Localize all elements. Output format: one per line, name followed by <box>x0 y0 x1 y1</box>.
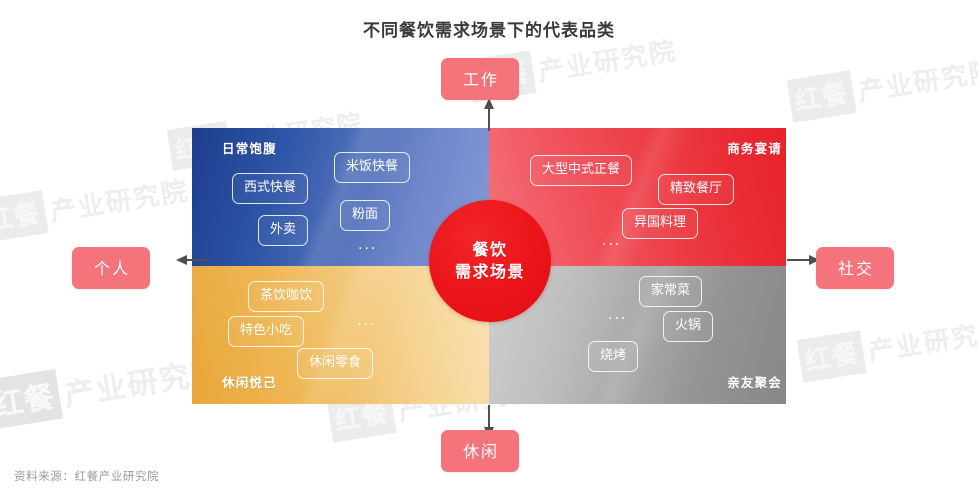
page-title: 不同餐饮需求场景下的代表品类 <box>0 16 978 41</box>
watermark: 红餐 产业研究院 <box>787 48 978 123</box>
category-pill[interactable]: 休闲零食 <box>297 348 373 379</box>
category-pill[interactable]: 米饭快餐 <box>334 152 410 183</box>
category-pill[interactable]: 烧烤 <box>588 341 638 372</box>
axis-label-work: 工作 <box>441 58 519 100</box>
category-pill[interactable]: 火锅 <box>663 311 713 342</box>
center-circle: 餐饮 需求场景 <box>429 200 551 322</box>
watermark-brand: 红餐 <box>0 369 63 430</box>
category-pill[interactable]: 茶饮咖饮 <box>248 281 324 312</box>
category-pill[interactable]: 西式快餐 <box>232 173 308 204</box>
more-indicator: ... <box>608 307 627 323</box>
category-pill[interactable]: 特色小吃 <box>228 316 304 347</box>
category-pill[interactable]: 外卖 <box>258 215 308 246</box>
quadrant-label-daily-meal: 日常饱腹 <box>222 138 277 157</box>
category-pill[interactable]: 异国料理 <box>622 208 698 239</box>
axis-label-social: 社交 <box>816 247 894 289</box>
more-indicator: ... <box>358 237 377 253</box>
category-pill[interactable]: 粉面 <box>340 200 390 231</box>
quadrant-label-gathering: 亲友聚会 <box>727 372 782 391</box>
watermark-tail: 产业研究院 <box>42 171 191 230</box>
watermark: 红餐 产业研究院 <box>797 308 978 383</box>
category-pill[interactable]: 大型中式正餐 <box>530 155 632 186</box>
axis-label-personal: 个人 <box>72 247 150 289</box>
infographic-canvas: 红餐 产业研究院 红餐 产业研究院 红餐 产业研究院 红餐 产业研究院 红餐 产… <box>0 0 978 492</box>
source-note: 资料来源：红餐产业研究院 <box>14 468 159 484</box>
axis-arrow-up <box>483 98 495 132</box>
watermark-brand: 红餐 <box>0 190 49 242</box>
watermark-brand: 红餐 <box>787 70 857 122</box>
axis-label-leisure: 休闲 <box>441 430 519 472</box>
axis-arrow-left <box>176 254 210 266</box>
more-indicator: ... <box>602 233 621 249</box>
center-label-line2: 需求场景 <box>455 261 525 283</box>
category-pill[interactable]: 家常菜 <box>639 276 702 307</box>
watermark: 红餐 产业研究院 <box>0 168 192 243</box>
quadrant-label-business: 商务宴请 <box>727 138 782 157</box>
axis-arrow-right <box>786 254 820 266</box>
more-indicator: ... <box>357 313 376 329</box>
quadrant-label-self-leisure: 休闲悦己 <box>222 372 277 391</box>
watermark-tail: 产业研究院 <box>850 51 978 110</box>
center-label-line1: 餐饮 <box>472 239 507 261</box>
category-pill[interactable]: 精致餐厅 <box>658 174 734 205</box>
watermark-brand: 红餐 <box>797 330 867 382</box>
watermark-tail: 产业研究院 <box>860 311 978 370</box>
